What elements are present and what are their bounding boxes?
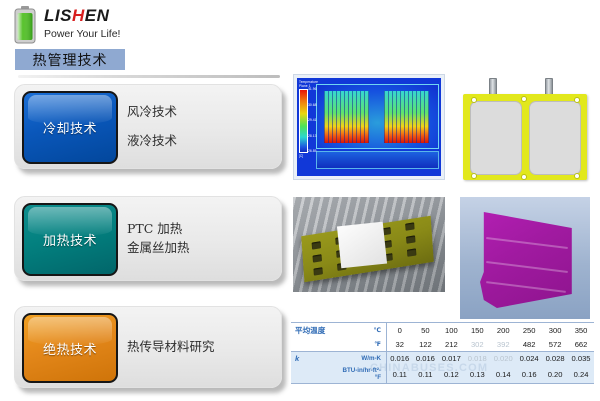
temp-c-6: 300: [542, 323, 568, 338]
card-cooling[interactable]: 冷却技术 风冷技术 液冷技术: [14, 84, 282, 169]
cfd-canvas: Temperature Plane 1 31.96 30.68 29.41 28…: [297, 78, 441, 176]
temp-c-7: 350: [568, 323, 594, 338]
brand-logo: LISHEN Power Your Life!: [14, 4, 164, 48]
card-heating[interactable]: 加热技术 PTC 加热 金属丝加热: [14, 196, 282, 281]
cfd-legend-ticks: 31.96 30.68 29.41 28.13 26.85: [308, 87, 317, 153]
frame-panel-left: [470, 101, 523, 175]
page-title-label: 热管理技术: [33, 50, 108, 70]
frame-body: [463, 94, 586, 180]
k-btu-1: 0.11: [412, 365, 438, 383]
temp-c-1: 50: [412, 323, 438, 338]
card-insulation-line-1: 热传导材料研究: [127, 340, 271, 354]
temp-c-0: 0: [387, 323, 413, 338]
row-label-temperature-blank: [291, 338, 336, 352]
purple-cad-plate-image: [460, 197, 590, 319]
cfd-base-plate: [316, 151, 439, 170]
table-row: k W/m-K 0.016 0.016 0.017 0.018 0.020 0.…: [291, 352, 594, 366]
k-wmk-5: 0.024: [516, 352, 542, 366]
k-wmk-2: 0.017: [438, 352, 464, 366]
cfd-tick-0: 31.96: [308, 87, 317, 91]
photo-inner: [293, 197, 445, 292]
k-wmk-6: 0.028: [542, 352, 568, 366]
table-row: BTU-in/hr-ft²-°F 0.11 0.11 0.12 0.13 0.1…: [291, 365, 594, 383]
card-heating-line-1: PTC 加热: [127, 222, 271, 236]
cfd-colorbar-legend: Temperature Plane 1 31.96 30.68 29.41 28…: [299, 80, 333, 170]
thermal-cfd-simulation: Temperature Plane 1 31.96 30.68 29.41 28…: [293, 74, 445, 180]
test-chamber-photo: [293, 197, 445, 292]
page-title: 热管理技术: [15, 49, 125, 70]
temp-c-3: 150: [464, 323, 490, 338]
unit-wmk: W/m-K: [336, 352, 387, 366]
k-wmk-1: 0.016: [412, 352, 438, 366]
k-wmk-4: 0.020: [490, 352, 516, 366]
card-cooling-pill[interactable]: 冷却技术: [22, 91, 118, 164]
temp-f-0: 32: [387, 338, 413, 352]
frame-hole-1: [471, 97, 477, 103]
cfd-legend-unit: [C]: [299, 154, 303, 158]
temp-c-4: 200: [490, 323, 516, 338]
brand-name-prefix: LIS: [44, 6, 72, 25]
card-heating-pill[interactable]: 加热技术: [22, 203, 118, 276]
card-heating-pill-label: 加热技术: [43, 230, 97, 249]
card-heating-body: PTC 加热 金属丝加热: [127, 197, 271, 280]
k-btu-5: 0.16: [516, 365, 542, 383]
card-cooling-body: 风冷技术 液冷技术: [127, 85, 271, 168]
card-cooling-line-1: 风冷技术: [127, 105, 271, 119]
cfd-colorbar: [299, 89, 308, 153]
frame-hole-6: [574, 173, 580, 179]
slide-root: LISHEN Power Your Life! 热管理技术 冷却技术 风冷技术 …: [0, 0, 600, 401]
card-insulation-body: 热传导材料研究: [127, 307, 271, 387]
table-row: ℉ 32 122 212 302 392 482 572 662: [291, 338, 594, 352]
card-insulation[interactable]: 绝热技术 热传导材料研究: [14, 306, 282, 388]
card-insulation-pill[interactable]: 绝热技术: [22, 313, 118, 383]
brand-bolt-letter: H: [72, 6, 85, 25]
thermal-conductivity-table: 平均温度 ℃ 0 50 100 150 200 250 300 350 ℉ 32…: [291, 322, 594, 384]
temp-f-5: 482: [516, 338, 542, 352]
k-wmk-3: 0.018: [464, 352, 490, 366]
unit-btu: BTU-in/hr-ft²-°F: [336, 365, 387, 383]
title-divider: [18, 75, 280, 78]
frame-hole-3: [574, 97, 580, 103]
battery-icon: [14, 6, 36, 44]
frame-hole-5: [521, 174, 527, 180]
k-wmk-0: 0.016: [387, 352, 413, 366]
cad-inner: [460, 197, 590, 319]
cfd-tick-3: 28.13: [308, 134, 317, 138]
table-root: 平均温度 ℃ 0 50 100 150 200 250 300 350 ℉ 32…: [291, 323, 594, 383]
temp-f-2: 212: [438, 338, 464, 352]
cfd-tick-1: 30.68: [308, 103, 317, 107]
temp-f-6: 572: [542, 338, 568, 352]
card-heating-line-2: 金属丝加热: [127, 241, 271, 255]
brand-name-suffix: EN: [85, 6, 110, 25]
cfd-enclosure: [316, 84, 439, 149]
k-btu-4: 0.14: [490, 365, 516, 383]
row-label-temperature: 平均温度: [291, 323, 336, 338]
card-insulation-pill-label: 绝热技术: [43, 339, 97, 358]
cfd-tick-4: 26.85: [308, 149, 317, 153]
k-btu-0: 0.11: [387, 365, 413, 383]
frame-hole-4: [471, 173, 477, 179]
yellow-cad-frame-image: [455, 74, 595, 184]
brand-name: LISHEN: [44, 6, 109, 26]
white-insulation-sheet: [337, 221, 387, 267]
frame-hole-2: [521, 96, 527, 102]
k-wmk-7: 0.035: [568, 352, 594, 366]
temp-f-4: 392: [490, 338, 516, 352]
cfd-fins-right: [384, 91, 429, 142]
cfd-module-right: [384, 91, 429, 142]
temp-f-3: 302: [464, 338, 490, 352]
unit-celsius: ℃: [336, 323, 387, 338]
temp-c-2: 100: [438, 323, 464, 338]
temp-f-7: 662: [568, 338, 594, 352]
cad-plate-body: [478, 208, 572, 308]
temp-c-5: 250: [516, 323, 542, 338]
row-label-k: k: [291, 352, 336, 366]
k-btu-3: 0.13: [464, 365, 490, 383]
card-cooling-pill-label: 冷却技术: [43, 118, 97, 137]
k-btu-6: 0.20: [542, 365, 568, 383]
table-row: 平均温度 ℃ 0 50 100 150 200 250 300 350: [291, 323, 594, 338]
cfd-tick-2: 29.41: [308, 118, 317, 122]
k-btu-7: 0.24: [568, 365, 594, 383]
card-cooling-line-2: 液冷技术: [127, 134, 271, 148]
brand-tagline: Power Your Life!: [44, 28, 120, 40]
row-label-k-blank: [291, 365, 336, 383]
k-btu-2: 0.12: [438, 365, 464, 383]
unit-fahrenheit: ℉: [336, 338, 387, 352]
frame-panel-right: [529, 101, 582, 175]
frame-inner: [455, 74, 595, 184]
temp-f-1: 122: [412, 338, 438, 352]
